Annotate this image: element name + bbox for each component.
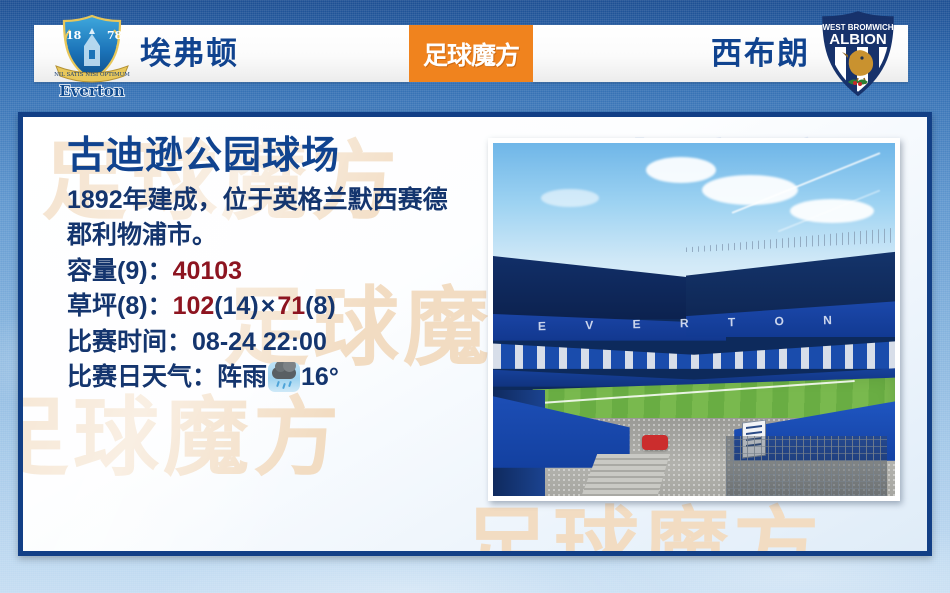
capacity-label: 容量(9)： [67, 257, 173, 285]
capacity-value: 40103 [173, 257, 243, 285]
svg-text:Everton: Everton [59, 82, 125, 100]
site-brand-logo-text: 足球魔方 [423, 36, 519, 72]
pitch-width: 71 [277, 292, 305, 320]
kickoff-row: 比赛时间：08-24 22:00 [67, 325, 487, 361]
match-header: 18 78 NIL SATIS NISI OPTIMUM Everton 埃弗顿… [0, 0, 950, 105]
metal-railing [726, 436, 887, 496]
kickoff-label: 比赛时间： [67, 328, 192, 356]
pitch-length: 102 [173, 292, 215, 320]
cloud [646, 157, 716, 183]
pitch-row: 草坪(8)：102(14)×71(8) [67, 289, 487, 325]
capacity-row: 容量(9)：40103 [67, 254, 487, 290]
times-symbol: × [259, 292, 278, 320]
cloud [541, 189, 599, 207]
weather-label: 比赛日天气： [67, 363, 217, 391]
pitch-length-rank: (14) [214, 292, 258, 320]
stadium-photo: E V E R T O N [493, 143, 895, 496]
stadium-photo-frame: E V E R T O N [488, 138, 900, 501]
kickoff-value: 08-24 22:00 [192, 328, 327, 356]
weather-row: 比赛日天气：阵雨16° [67, 360, 487, 396]
weather-temperature: 16° [301, 363, 339, 391]
screenshot-root: 18 78 NIL SATIS NISI OPTIMUM Everton 埃弗顿… [0, 0, 950, 593]
svg-text:18: 18 [66, 29, 82, 42]
rain-shower-icon [268, 362, 300, 392]
home-team-name: 埃弗顿 [140, 25, 239, 82]
away-team-crest-icon: WEST BROMWICH ALBION [810, 6, 906, 102]
weather-condition: 阵雨 [217, 363, 267, 391]
red-equipment-bag [642, 435, 668, 450]
pitch-label: 草坪(8)： [67, 292, 173, 320]
stadium-info-text: 古迪逊公园球场 1892年建成，位于英格兰默西赛德郡利物浦市。 容量(9)：40… [67, 135, 487, 396]
svg-text:78: 78 [107, 29, 123, 42]
away-team-name: 西布朗 [711, 25, 810, 82]
pitch-width-rank: (8) [305, 292, 336, 320]
stadium-title: 古迪逊公园球场 [67, 135, 487, 179]
home-team-crest-icon: 18 78 NIL SATIS NISI OPTIMUM Everton [44, 6, 140, 102]
site-brand-logo[interactable]: 足球魔方 [409, 25, 533, 82]
svg-text:NIL SATIS NISI OPTIMUM: NIL SATIS NISI OPTIMUM [54, 72, 130, 78]
svg-text:ALBION: ALBION [829, 31, 887, 48]
stadium-description: 1892年建成，位于英格兰默西赛德郡利物浦市。 [67, 183, 459, 254]
stadium-info-card: 足球魔方 足球魔方 足球魔方 足球魔方 足球魔方 古迪逊公园球场 1892年建成… [18, 112, 932, 556]
